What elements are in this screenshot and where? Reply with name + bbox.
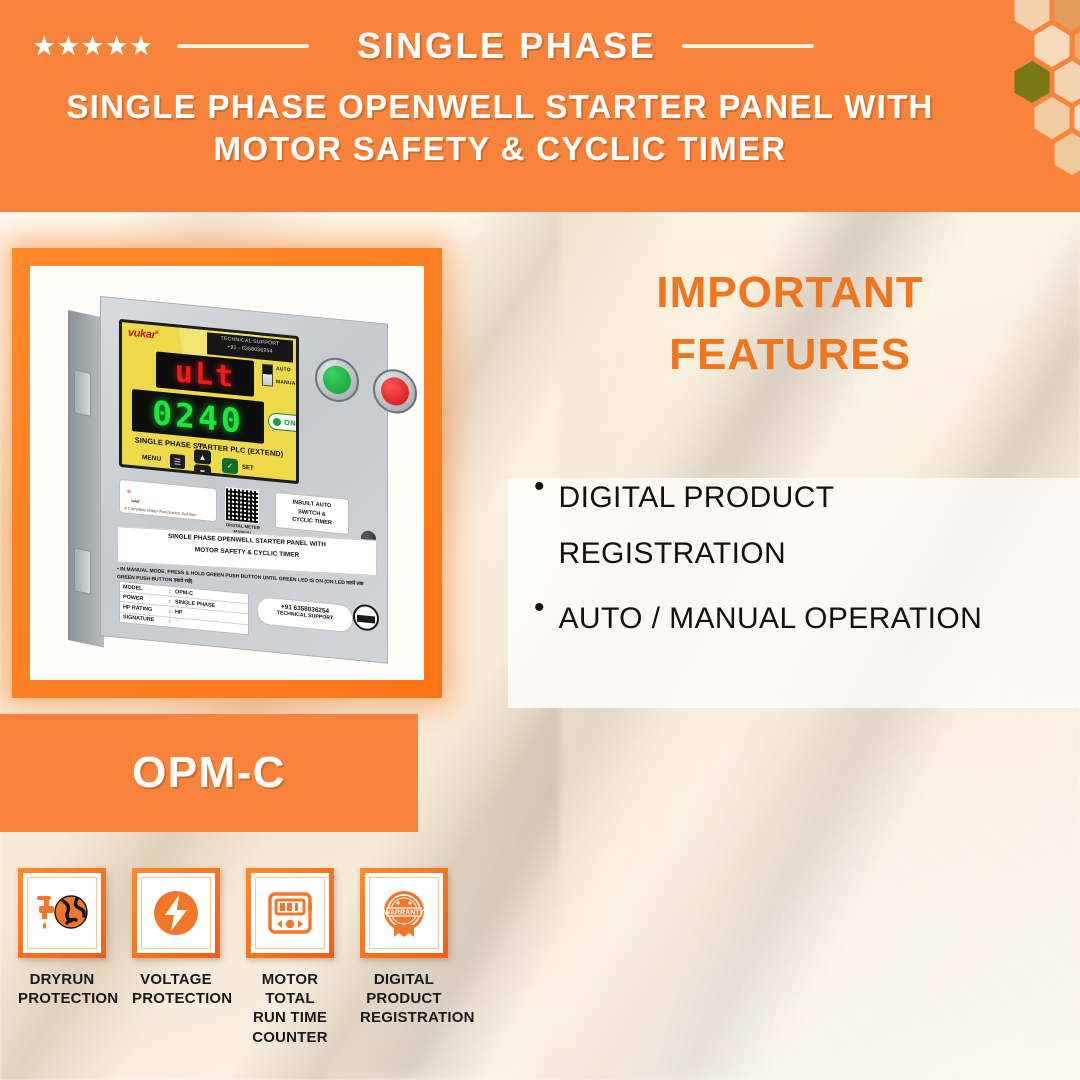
quality-seal-icon bbox=[353, 603, 379, 632]
sticker-spec-table: MODEL : OPM-C POWER : SINGLE PHASE HP RA… bbox=[119, 581, 249, 635]
spec-key: SIGNATURE bbox=[123, 614, 169, 624]
green-push-button[interactable] bbox=[315, 356, 359, 404]
badge-line-3: CYCLIC TIMER bbox=[292, 516, 332, 528]
enclosure-side bbox=[68, 310, 104, 648]
led-top-value: uLt bbox=[175, 354, 235, 395]
timer-meter-icon bbox=[263, 886, 317, 940]
features-heading-line-2: FEATURES bbox=[560, 324, 1020, 386]
header-title: SINGLE PHASE OPENWELL STARTER PANEL WITH… bbox=[0, 86, 1000, 170]
icon-frame bbox=[246, 868, 334, 958]
up-button[interactable]: ▲ bbox=[194, 449, 211, 465]
auto-manual-switch[interactable] bbox=[262, 364, 273, 387]
hinge-bottom bbox=[74, 547, 91, 595]
icon-label-line: REGISTRATION bbox=[360, 1008, 448, 1027]
icon-frame bbox=[132, 868, 220, 958]
rating-stars: ★★★★★ bbox=[32, 33, 153, 60]
switch-label-manual: MANUAL bbox=[276, 379, 299, 387]
feature-icon-item: VOLTAGE PROTECTION bbox=[132, 868, 220, 1047]
menu-key-label: MENU bbox=[142, 454, 161, 463]
set-button[interactable]: ✓ bbox=[222, 458, 238, 475]
header-divider-left bbox=[177, 44, 309, 48]
header-divider-right bbox=[682, 44, 814, 48]
icon-label-line: MOTOR bbox=[246, 970, 334, 989]
sticker-brand-logo: vukar® A Complete Water Automation Solut… bbox=[119, 479, 217, 522]
model-name-banner: OPM-C bbox=[0, 714, 418, 832]
feature-icon-strip: DRYRUN PROTECTION VOLTAGE PROTECTION bbox=[18, 868, 518, 1047]
warranty-seal-icon: WARRANTY bbox=[377, 887, 431, 939]
feature-badge: INBUILT AUTO SWITCH & CYCLIC TIMER bbox=[275, 492, 349, 535]
switch-label-auto: AUTO bbox=[276, 366, 291, 373]
green-button-cap bbox=[323, 364, 351, 395]
icon-label-line: PRODUCT bbox=[360, 989, 448, 1008]
icon-label-line: VOLTAGE bbox=[132, 970, 220, 989]
up-key-label: UP bbox=[198, 442, 204, 448]
icon-label-line: DRYRUN bbox=[18, 970, 106, 989]
list-item: • DIGITAL PRODUCT REGISTRATION bbox=[534, 470, 1054, 581]
led-bottom-value: 0240 bbox=[152, 393, 243, 441]
header-top-row: ★★★★★ SINGLE PHASE bbox=[0, 22, 1080, 70]
sticker-brand-tagline: A Complete Water Automation Solution bbox=[124, 505, 196, 517]
feature-icon-item: DRYRUN PROTECTION bbox=[18, 868, 106, 1047]
icon-label-line: PROTECTION bbox=[132, 989, 220, 1008]
icon-frame bbox=[18, 868, 106, 958]
features-heading-line-1: IMPORTANT bbox=[560, 262, 1020, 324]
icon-label: VOLTAGE PROTECTION bbox=[132, 970, 220, 1008]
starter-panel-product: vukar® TECHNICAL SUPPORT +91 - 635803625… bbox=[68, 296, 388, 648]
list-item: • AUTO / MANUAL OPERATION bbox=[534, 591, 1054, 647]
bullet-icon: • bbox=[534, 470, 545, 581]
feature-icon-item: MOTOR TOTAL RUN TIME COUNTER bbox=[246, 868, 334, 1047]
bullet-icon: • bbox=[534, 591, 545, 647]
icon-label-line: RUN TIME bbox=[246, 1008, 334, 1027]
icon-label-line: COUNTER bbox=[246, 1028, 334, 1047]
sticker-support-contact: +91 6358036254 TECHNICAL SUPPORT bbox=[257, 596, 353, 633]
enclosure-front-face: vukar® TECHNICAL SUPPORT +91 - 635803625… bbox=[100, 296, 388, 664]
digital-meter-face: vukar® TECHNICAL SUPPORT +91 - 635803625… bbox=[119, 319, 299, 484]
feature-text: DIGITAL PRODUCT REGISTRATION bbox=[559, 470, 1054, 581]
hinge-top bbox=[74, 369, 91, 417]
on-indicator: ON bbox=[268, 412, 299, 433]
header-title-line-2: MOTOR SAFETY & CYCLIC TIMER bbox=[0, 128, 1000, 170]
model-name: OPM-C bbox=[132, 748, 286, 798]
down-button[interactable]: ▼ bbox=[194, 464, 211, 480]
red-button-cap bbox=[381, 376, 409, 407]
header-title-line-1: SINGLE PHASE OPENWELL STARTER PANEL WITH bbox=[0, 86, 1000, 128]
icon-frame: WARRANTY bbox=[360, 868, 448, 958]
set-key-label: SET bbox=[242, 465, 254, 472]
sticker-brand-text: vukar bbox=[131, 498, 139, 504]
features-list: • DIGITAL PRODUCT REGISTRATION • AUTO / … bbox=[534, 470, 1054, 657]
header-banner: ★★★★★ SINGLE PHASE SINGLE PHASE OPENWELL… bbox=[0, 0, 1080, 212]
icon-label-line: TOTAL bbox=[246, 989, 334, 1008]
seal-band bbox=[357, 615, 375, 624]
on-indicator-led bbox=[273, 417, 281, 426]
feature-icon-item: WARRANTY DIGITAL PRODUCT REGISTRATION bbox=[360, 868, 448, 1047]
led-display-bottom: 0240 bbox=[132, 389, 264, 444]
features-heading: IMPORTANT FEATURES bbox=[560, 262, 1020, 387]
meter-brand-text: vukar bbox=[128, 327, 155, 342]
lightning-bolt-icon bbox=[150, 887, 202, 939]
led-display-top: uLt bbox=[156, 351, 254, 396]
tap-globe-icon bbox=[33, 887, 91, 939]
icon-label: DIGITAL PRODUCT REGISTRATION bbox=[360, 970, 448, 1028]
header-kicker: SINGLE PHASE bbox=[357, 25, 656, 67]
icon-label: DRYRUN PROTECTION bbox=[18, 970, 106, 1008]
on-indicator-label: ON bbox=[284, 418, 296, 428]
icon-label-line: DIGITAL bbox=[360, 970, 448, 989]
feature-text: AUTO / MANUAL OPERATION bbox=[559, 591, 983, 647]
icon-label: MOTOR TOTAL RUN TIME COUNTER bbox=[246, 970, 334, 1047]
meter-brand-logo: vukar® bbox=[128, 327, 159, 342]
icon-label-line: PROTECTION bbox=[18, 989, 106, 1008]
svg-text:WARRANTY: WARRANTY bbox=[384, 909, 425, 916]
menu-button[interactable]: ☰ bbox=[170, 454, 185, 469]
qr-code bbox=[225, 487, 259, 524]
product-image-frame: vukar® TECHNICAL SUPPORT +91 - 635803625… bbox=[12, 248, 442, 698]
product-sticker-label: vukar® A Complete Water Automation Solut… bbox=[117, 477, 379, 652]
